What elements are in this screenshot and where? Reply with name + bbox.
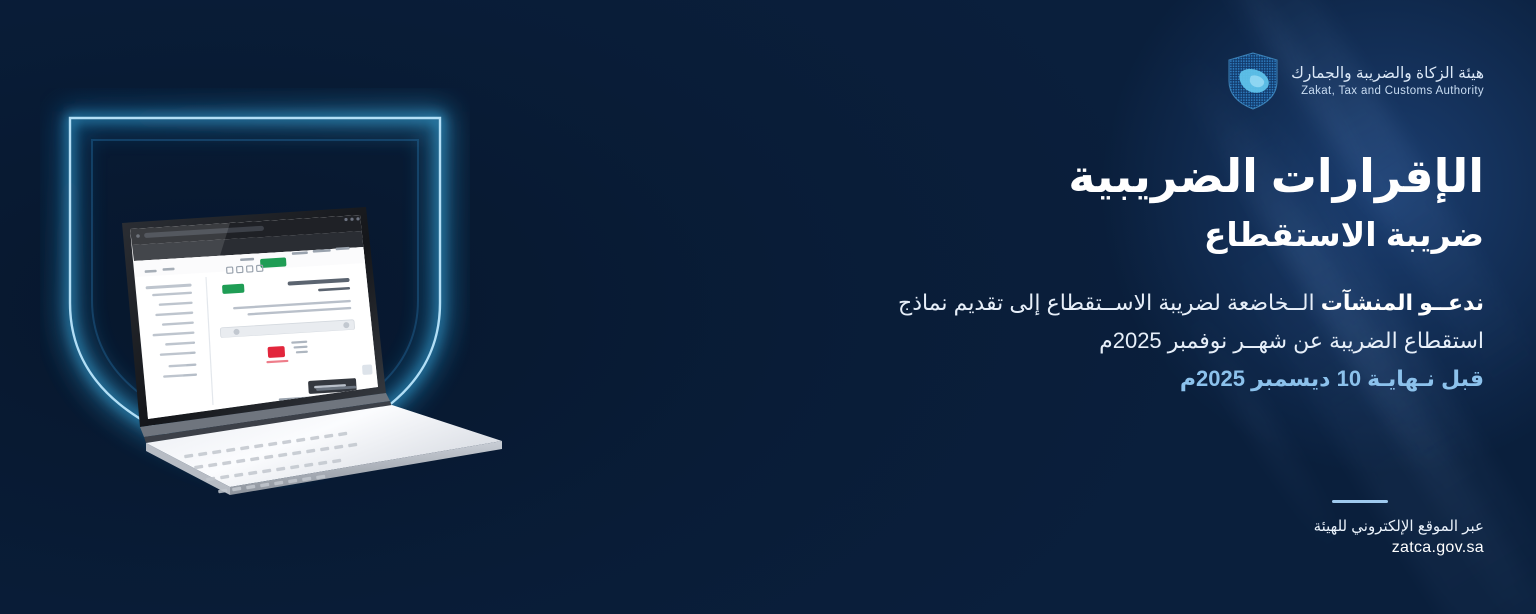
hero-visual: [0, 0, 640, 614]
footer-website-url[interactable]: zatca.gov.sa: [1144, 539, 1484, 557]
logo-name-arabic: هيئة الزكاة والضريبة والجمارك: [1291, 64, 1484, 83]
footer-divider: [1332, 500, 1388, 503]
footer-note: عبر الموقع الإلكتروني للهيئة: [1144, 516, 1484, 539]
laptop-screen-content: [130, 215, 378, 423]
zatca-shield-logo-icon: [1227, 52, 1279, 110]
logo-wordmark: هيئة الزكاة والضريبة والجمارك Zakat, Tax…: [1291, 64, 1484, 99]
body-line-1-rest: الــخاضعة لضريبة الاســتقطاع إلى تقديم ن…: [898, 290, 1321, 315]
footer-block: عبر الموقع الإلكتروني للهيئة zatca.gov.s…: [1144, 500, 1484, 557]
laptop-illustration: [110, 205, 510, 485]
page-title: الإقرارات الضريبية: [704, 150, 1484, 203]
page-subtitle: ضريبة الاستقطاع: [704, 215, 1484, 255]
body-line-3-deadline: قبل نـهايـة 10 ديسمبر 2025م: [704, 360, 1484, 398]
zatca-logo[interactable]: هيئة الزكاة والضريبة والجمارك Zakat, Tax…: [1227, 52, 1484, 110]
body-line-2: استقطاع الضريبة عن شهــر نوفمبر 2025م: [704, 322, 1484, 360]
body-line-1-bold: ندعــو المنشآت: [1321, 290, 1484, 315]
logo-name-english: Zakat, Tax and Customs Authority: [1291, 84, 1484, 98]
body-line-1: ندعــو المنشآت الــخاضعة لضريبة الاســتق…: [704, 284, 1484, 322]
copy-block: الإقرارات الضريبية ضريبة الاستقطاع ندعــ…: [704, 150, 1484, 398]
body-paragraph: ندعــو المنشآت الــخاضعة لضريبة الاســتق…: [704, 284, 1484, 397]
banner-root: هيئة الزكاة والضريبة والجمارك Zakat, Tax…: [0, 0, 1536, 614]
laptop-device: [110, 205, 510, 485]
